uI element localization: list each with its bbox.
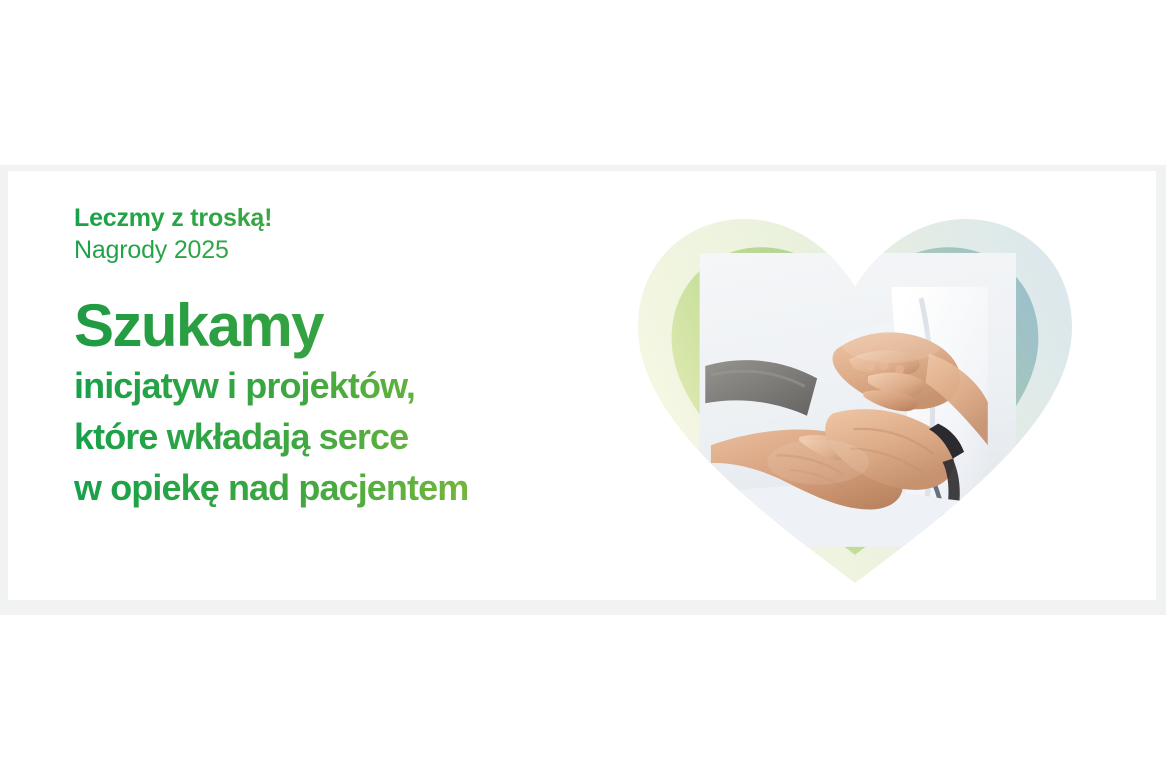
headline-line-2: inicjatyw i projektów, — [74, 360, 634, 411]
headline-line-3: które wkładają serce — [74, 411, 634, 462]
banner-stage: Leczmy z troską! Nagrody 2025 Szukamy in… — [0, 0, 1166, 777]
campaign-banner-card: Leczmy z troską! Nagrody 2025 Szukamy in… — [8, 171, 1156, 600]
heart-graphic — [620, 179, 1090, 599]
clasped-hands-photo — [700, 253, 1016, 547]
heart-illustration-svg — [620, 179, 1090, 599]
headline-line-1: Szukamy — [74, 292, 634, 360]
campaign-slogan: Leczmy z troską! — [74, 203, 634, 234]
banner-copy-block: Leczmy z troską! Nagrody 2025 Szukamy in… — [74, 203, 634, 513]
headline-line-4: w opiekę nad pacjentem — [74, 462, 634, 513]
campaign-award-year: Nagrody 2025 — [74, 234, 634, 267]
